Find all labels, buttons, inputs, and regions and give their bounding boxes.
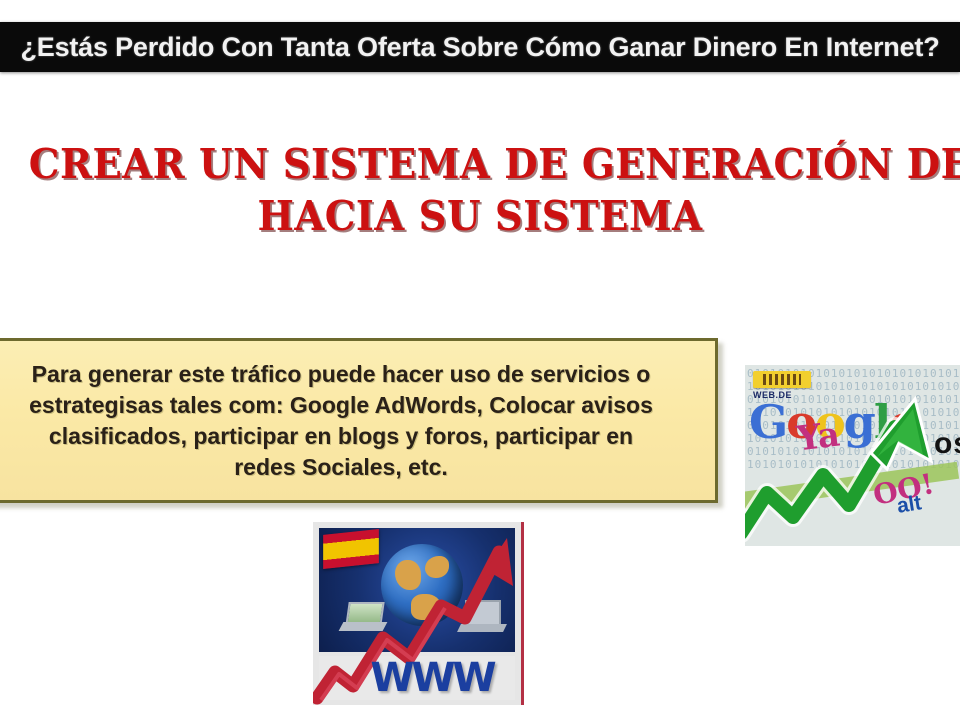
top-banner-text: ¿Estás Perdido Con Tanta Oferta Sobre Có… xyxy=(20,32,939,63)
top-banner: ¿Estás Perdido Con Tanta Oferta Sobre Có… xyxy=(0,22,960,72)
page-title-line-1: CREAR UN SISTEMA DE GENERACIÓN DE TRÁFIC… xyxy=(29,138,931,190)
body-text-callout: Para generar este tráfico puede hacer us… xyxy=(0,338,718,503)
image-search-engines-growth: 0101010101010101010101010101010101010101… xyxy=(745,365,960,546)
page-title-line-2: HACIA SU SISTEMA xyxy=(29,190,931,242)
image-world-wide-web: WWW xyxy=(313,522,524,705)
callout-line-3: clasificados, participar en blogs y foro… xyxy=(49,423,633,449)
callout-paragraph: Para generar este tráfico puede hacer us… xyxy=(15,359,667,483)
slide-canvas: ¿Estás Perdido Con Tanta Oferta Sobre Có… xyxy=(0,0,960,720)
green-growth-arrow-icon xyxy=(745,365,960,546)
callout-line-2: estrategisas tales com: Google AdWords, … xyxy=(29,392,653,418)
page-title: CREAR UN SISTEMA DE GENERACIÓN DE TRÁFIC… xyxy=(29,138,931,242)
callout-line-4: redes Sociales, etc. xyxy=(234,454,448,480)
callout-line-1: Para generar este tráfico puede hacer us… xyxy=(32,361,651,387)
www-label: WWW xyxy=(357,656,507,700)
